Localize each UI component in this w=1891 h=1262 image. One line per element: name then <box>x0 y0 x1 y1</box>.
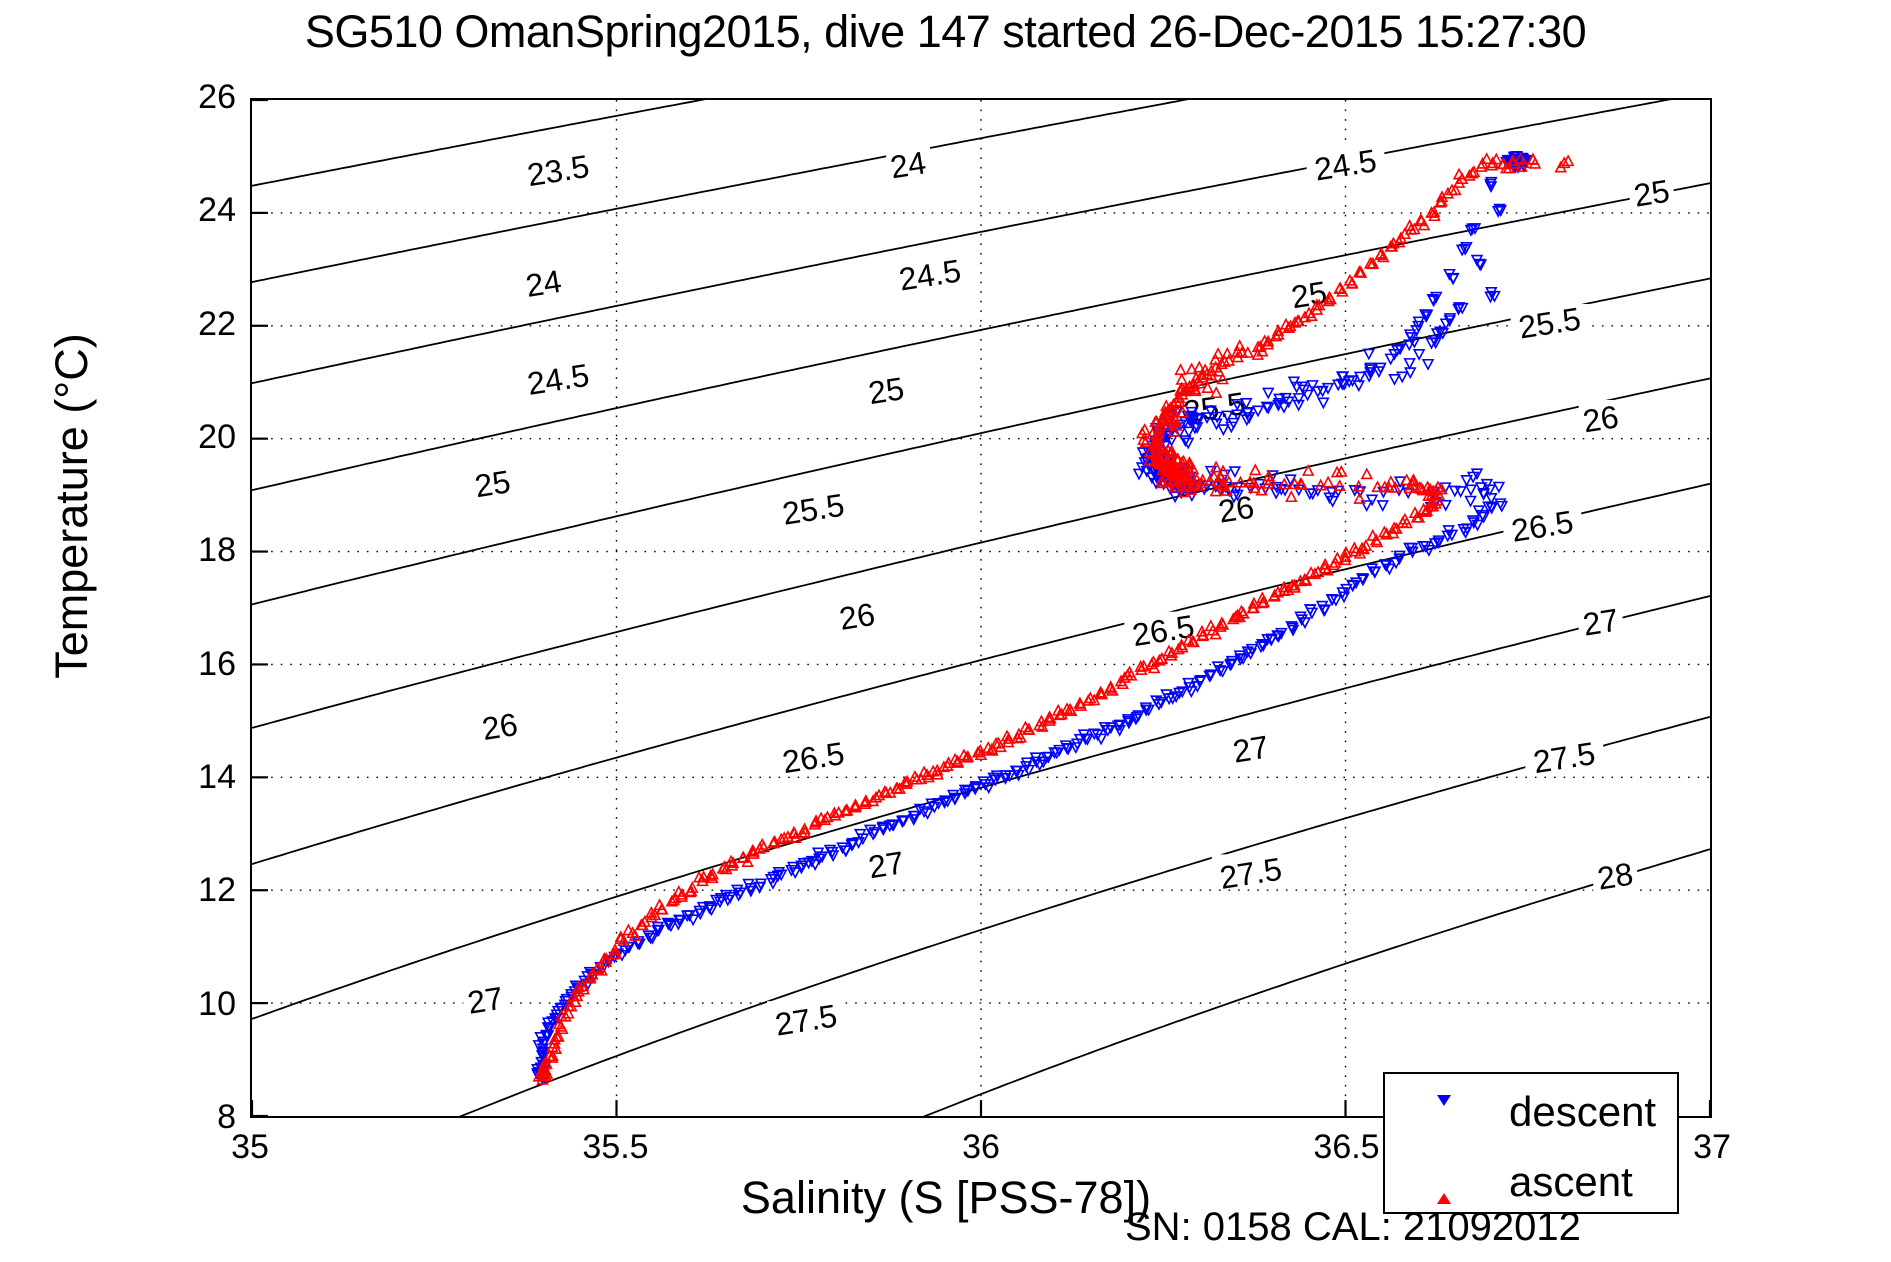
data-point <box>1364 349 1374 358</box>
data-point <box>1230 467 1240 476</box>
x-tick-36: 36 <box>901 1128 1061 1167</box>
contour-label-27: 27 <box>1230 729 1271 770</box>
data-point <box>1367 495 1377 504</box>
y-tick-20: 20 <box>116 418 236 457</box>
data-point <box>1286 492 1296 501</box>
data-point <box>1325 493 1335 502</box>
contour-label-27: 27 <box>465 980 506 1021</box>
contour-line-24 <box>252 100 1364 282</box>
data-point <box>1253 406 1263 415</box>
contour-label-27: 27 <box>866 844 907 885</box>
data-point <box>1494 482 1504 491</box>
data-point <box>1362 469 1372 478</box>
contour-line-24.5 <box>252 100 1710 383</box>
data-point <box>1337 287 1347 296</box>
y-tick-22: 22 <box>116 305 236 344</box>
legend-label-ascent: ascent <box>1509 1158 1633 1206</box>
contour-label-24: 24 <box>888 144 929 185</box>
data-point <box>1180 436 1190 445</box>
data-point <box>1414 350 1424 359</box>
data-point <box>1378 501 1388 510</box>
data-point <box>1354 381 1364 390</box>
x-tick-35.5: 35.5 <box>536 1128 696 1167</box>
contour-line-26 <box>252 378 1710 728</box>
data-point <box>1318 398 1328 407</box>
data-point <box>1390 375 1400 384</box>
descent-marker-icon <box>1437 1106 1453 1122</box>
data-point <box>1423 360 1433 369</box>
data-point <box>1250 465 1260 474</box>
y-tick-12: 12 <box>116 871 236 910</box>
data-point <box>1134 469 1144 478</box>
data-point <box>1222 349 1232 358</box>
x-tick-35: 35 <box>170 1128 330 1167</box>
contour-labels: 23.52424.5252424.52525.524.52525.5262525… <box>463 142 1673 1042</box>
contour-label-26: 26 <box>837 596 878 637</box>
y-tick-10: 10 <box>116 985 236 1024</box>
contour-line-25.5 <box>252 278 1710 604</box>
x-tick-37: 37 <box>1632 1128 1792 1167</box>
contour-label-27: 27 <box>1580 602 1621 643</box>
sn-cal-annotation: SN: 0158 CAL: 21092012 <box>1125 1205 1581 1250</box>
plot-canvas: 23.52424.5252424.52525.524.52525.5262525… <box>252 100 1710 1116</box>
data-point <box>1218 425 1228 434</box>
contour-label-25: 25 <box>472 463 513 504</box>
contour-label-26: 26 <box>480 706 521 747</box>
y-tick-24: 24 <box>116 191 236 230</box>
data-point <box>1466 497 1476 506</box>
y-axis-label: Temperature (°C) <box>46 206 98 806</box>
y-tick-18: 18 <box>116 531 236 570</box>
contour-label-25: 25 <box>866 370 907 411</box>
plot-area: 23.52424.5252424.52525.524.52525.5262525… <box>250 98 1712 1118</box>
data-point <box>1263 388 1273 397</box>
data-point <box>851 800 861 809</box>
y-tick-26: 26 <box>116 78 236 117</box>
data-point <box>1466 485 1476 494</box>
contour-label-26: 26 <box>1580 398 1621 439</box>
data-point <box>1405 359 1415 368</box>
data-point <box>1176 365 1186 374</box>
data-point <box>1323 477 1333 486</box>
contour-label-25: 25 <box>1631 173 1672 214</box>
x-tick-36.5: 36.5 <box>1267 1128 1427 1167</box>
data-point <box>1355 494 1365 503</box>
figure-title: SG510 OmanSpring2015, dive 147 started 2… <box>0 6 1891 58</box>
contour-line-27.5 <box>380 717 1710 1116</box>
contour-label-24: 24 <box>523 263 564 304</box>
y-tick-14: 14 <box>116 758 236 797</box>
data-point <box>1335 481 1345 490</box>
plot-figure: SG510 OmanSpring2015, dive 147 started 2… <box>0 0 1891 1262</box>
contour-label-28: 28 <box>1595 856 1636 897</box>
series-ascent <box>534 154 1573 1084</box>
y-tick-16: 16 <box>116 645 236 684</box>
